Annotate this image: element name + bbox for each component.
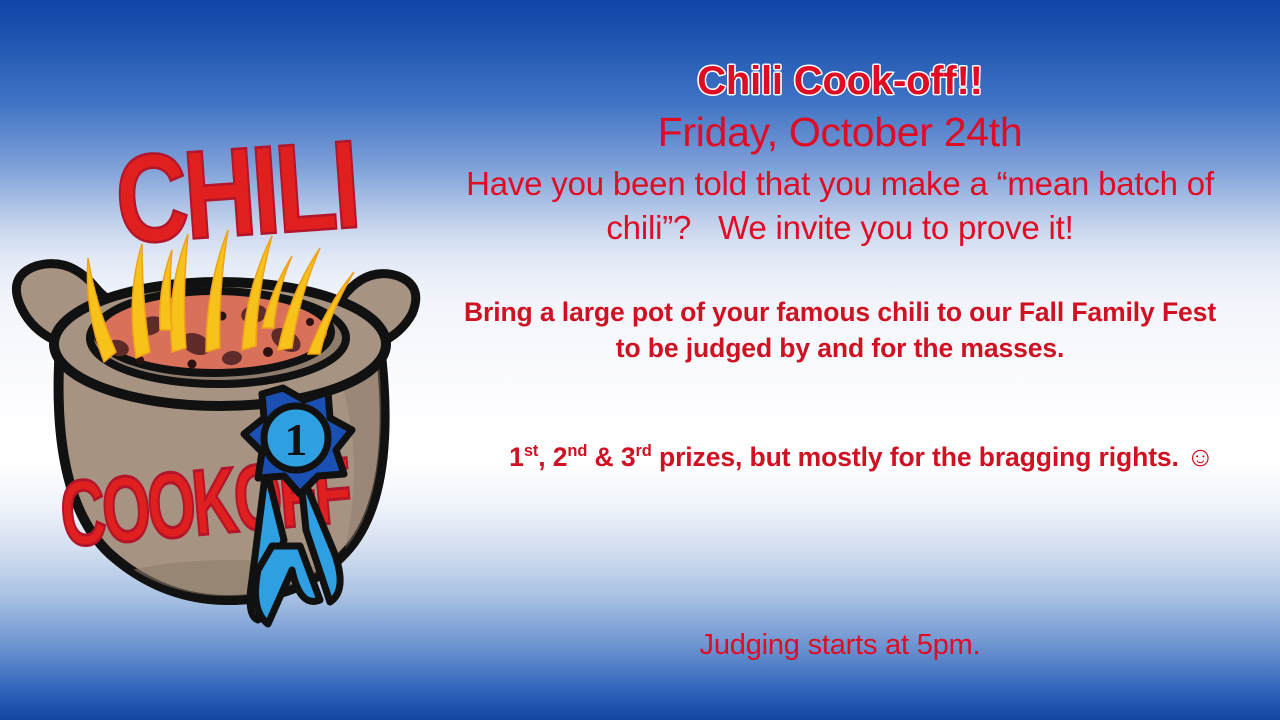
page-title: Chili Cook-off!! bbox=[430, 58, 1250, 104]
flyer-text-column: Chili Cook-off!! Friday, October 24th Ha… bbox=[430, 0, 1250, 720]
flyer-slide: CHILI COOKOFF 1 Chili Cook-off!! Friday, bbox=[0, 0, 1280, 720]
closing-block: Judging starts at 5pm. Sign up at the Fa… bbox=[430, 548, 1250, 720]
prize-tail-text: prizes, but mostly for the bragging righ… bbox=[652, 442, 1186, 472]
intro-text: Have you been told that you make a “mean… bbox=[430, 162, 1250, 250]
event-date: Friday, October 24th bbox=[430, 108, 1250, 156]
prize-separator-2: & bbox=[587, 442, 621, 472]
prize-third-number: 3 bbox=[621, 442, 636, 472]
judging-time: Judging starts at 5pm. bbox=[430, 626, 1250, 665]
prizes-text: 1st, 2nd & 3rd prizes, but mostly for th… bbox=[430, 406, 1250, 508]
prize-first-suffix: st bbox=[524, 442, 538, 460]
chili-word: CHILI bbox=[111, 114, 361, 271]
svg-text:CHILI: CHILI bbox=[111, 114, 361, 271]
prize-second-number: 2 bbox=[553, 442, 568, 472]
instructions-text: Bring a large pot of your famous chili t… bbox=[430, 294, 1250, 366]
prize-third-suffix: rd bbox=[635, 442, 651, 460]
prize-first-number: 1 bbox=[509, 442, 524, 472]
chili-cookoff-clipart: CHILI COOKOFF 1 bbox=[0, 100, 440, 630]
smiley-icon: ☺ bbox=[1186, 441, 1214, 472]
prize-separator-1: , bbox=[538, 442, 553, 472]
ribbon-number: 1 bbox=[285, 414, 308, 465]
prize-second-suffix: nd bbox=[567, 442, 587, 460]
